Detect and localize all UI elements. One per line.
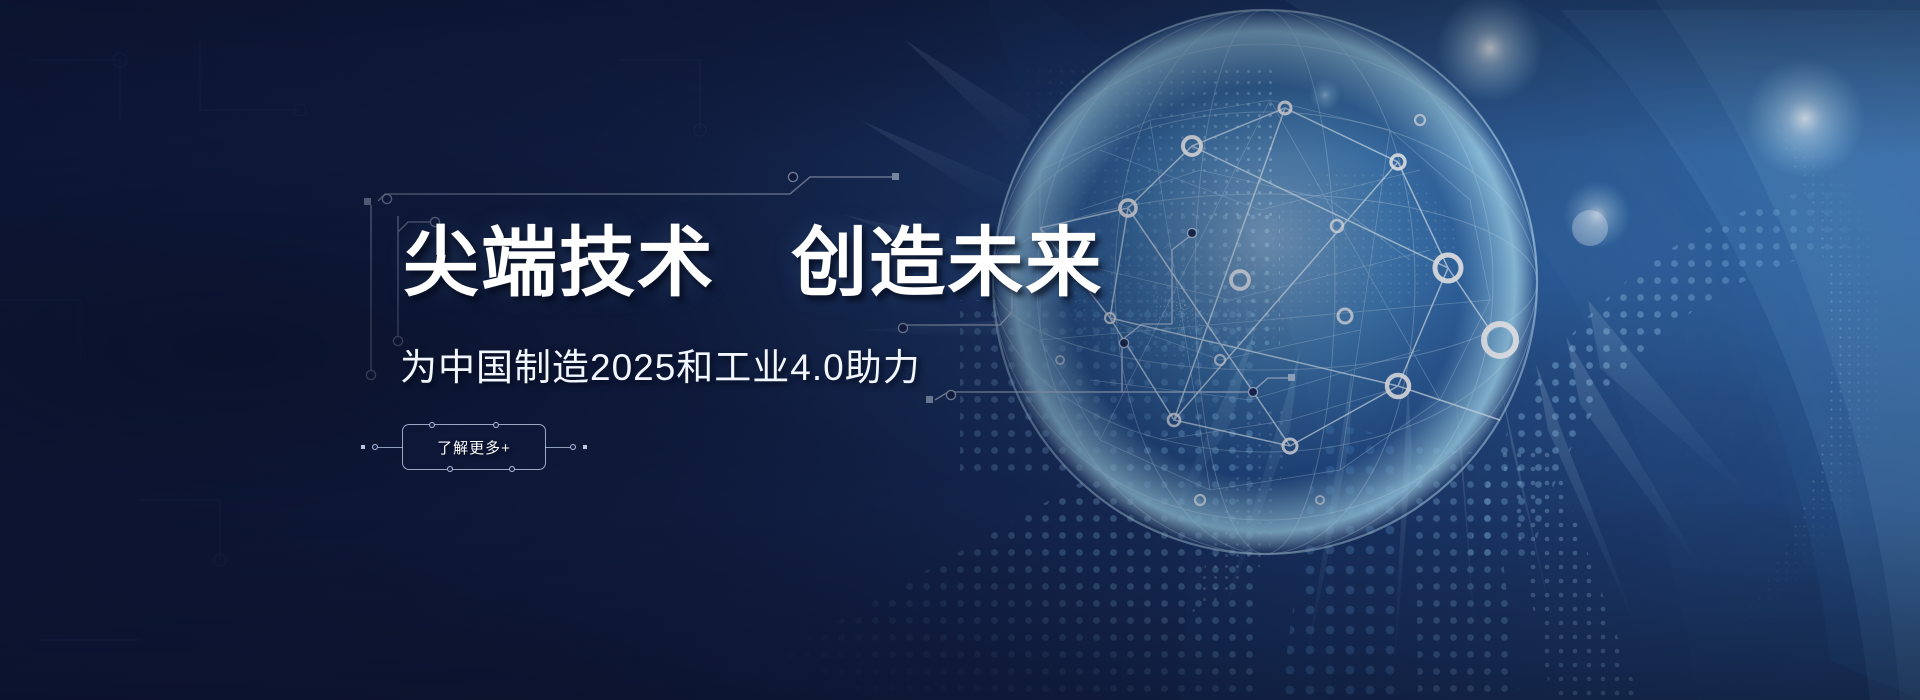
cta-endcap-right — [583, 445, 587, 449]
cta-endcap-left — [361, 445, 365, 449]
cta-lead-line-left — [375, 447, 403, 448]
cta-node-bottom-1 — [447, 466, 453, 472]
headline-part-1: 尖端技术 — [403, 221, 715, 306]
learn-more-button[interactable]: 了解更多+ — [402, 424, 546, 470]
cta-node-right — [570, 444, 576, 450]
cta-node-top-1 — [429, 422, 435, 428]
cta-node-left — [372, 444, 378, 450]
hero-text-block: 尖端技术 创造未来 为中国制造2025和工业4.0助力 了解更多+ — [0, 0, 1100, 700]
cta-lead-line-right — [545, 447, 573, 448]
page-subtitle: 为中国制造2025和工业4.0助力 — [400, 337, 921, 391]
hero-banner: 尖端技术 创造未来 为中国制造2025和工业4.0助力 了解更多+ — [0, 0, 1920, 700]
page-title: 尖端技术 创造未来 — [403, 226, 1103, 302]
cta-label: 了解更多+ — [437, 437, 511, 458]
cta-node-top-2 — [493, 422, 499, 428]
cta-node-bottom-2 — [509, 466, 515, 472]
headline-part-2: 创造未来 — [791, 221, 1103, 306]
